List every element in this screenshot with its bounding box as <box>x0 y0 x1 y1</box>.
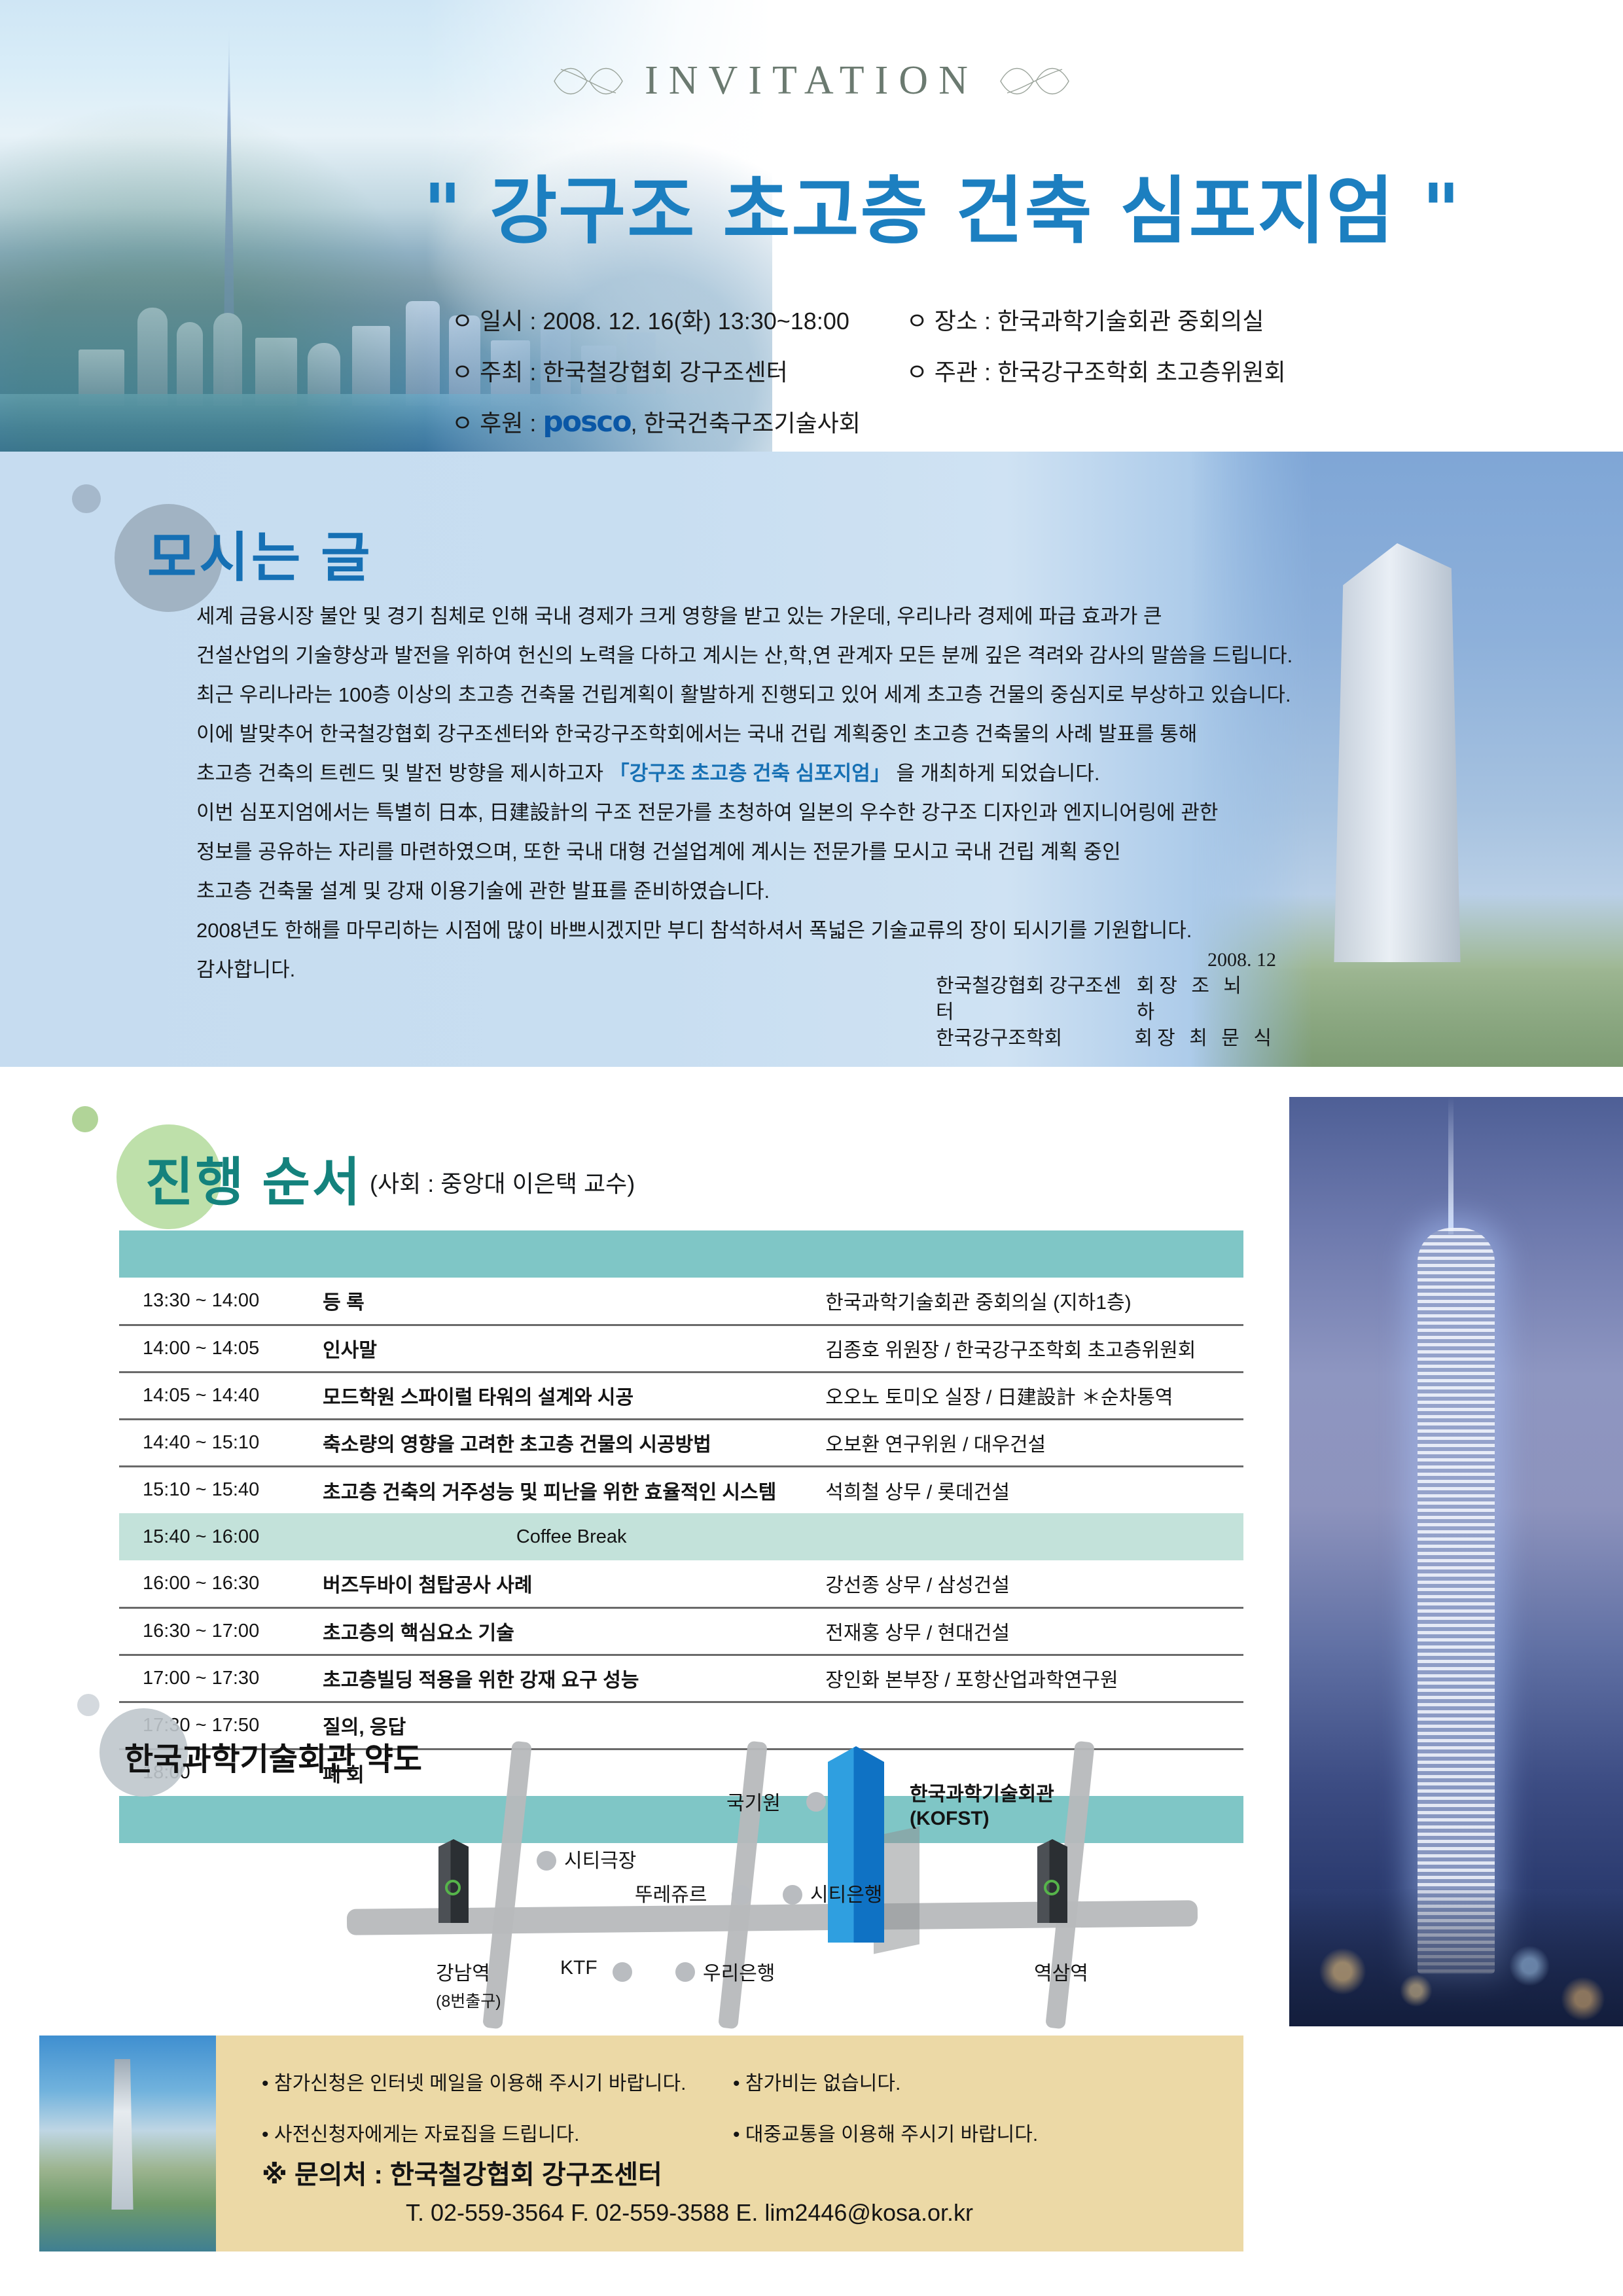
row-time: 16:00 ~ 16:30 <box>119 1560 317 1607</box>
meta-organizer-label: ㅇ 주관 : <box>906 353 991 387</box>
row-topic: 축소량의 영향을 고려한 초고층 건물의 시공방법 <box>317 1419 820 1466</box>
meta-sponsor: ㅇ 후원 : posco , 한국건축구조기술사회 <box>452 404 1171 439</box>
map-label-gangnam-exit: (8번출구) <box>436 1988 501 2012</box>
program-subtitle: (사회 : 중앙대 이은택 교수) <box>370 1165 635 1199</box>
note-right: • 대중교통을 이용해 주시기 바랍니다. <box>733 2118 1191 2147</box>
program-title: 진행 순서 <box>145 1140 363 1216</box>
greeting-accent-dot <box>72 484 101 513</box>
greeting-paragraph: 초고층 건축물 설계 및 강재 이용기술에 관한 발표를 준비하였습니다. <box>196 877 1217 906</box>
row-topic: 버즈두바이 첨탑공사 사례 <box>317 1560 820 1607</box>
tower-city-base <box>1289 1889 1623 2026</box>
row-speaker: 한국과학기술회관 중회의실 (지하1층) <box>820 1278 1243 1325</box>
row-speaker <box>820 1513 1243 1560</box>
signature-role-name: 회장 조 뇌 하 <box>1137 973 1276 1026</box>
greeting-body: 세계 금융시장 불안 및 경기 침체로 인해 국내 경제가 크게 영향을 받고 … <box>196 602 1217 995</box>
table-row: 14:05 ~ 14:40 모드학원 스파이럴 타워의 설계와 시공 오오노 토… <box>119 1372 1243 1419</box>
invitation-word: INVITATION <box>630 58 993 104</box>
meta-sponsor-value: , 한국건축구조기술사회 <box>631 404 861 439</box>
footer-contact-title: ※ 문의처 : 한국철강협회 강구조센터 <box>262 2153 662 2191</box>
signature-role-name: 회장 최 문 식 <box>1134 1026 1276 1052</box>
map-poi-tous-les-jours <box>732 1885 751 1905</box>
map-station-gangnam-icon <box>438 1839 469 1923</box>
posco-logo: posco <box>543 405 630 439</box>
row-speaker: 김종호 위원장 / 한국강구조학회 초고층위원회 <box>820 1325 1243 1372</box>
row-speaker: 석희철 상무 / 롯데건설 <box>820 1466 1243 1513</box>
table-row: 14:00 ~ 14:05 인사말 김종호 위원장 / 한국강구조학회 초고층위… <box>119 1325 1243 1372</box>
row-time: 14:00 ~ 14:05 <box>119 1325 317 1372</box>
map-label-woori-bank: 우리은행 <box>703 1957 775 1986</box>
invitation-poster: INVITATION " 강구조 초고층 건축 심포지엄 " ㅇ 일시 : 20… <box>0 0 1623 2296</box>
tower-body <box>1418 1228 1495 1974</box>
map-poi-ktf <box>613 1962 632 1982</box>
highlight-before: 초고층 건축의 트렌드 및 발전 방향을 제시하고자 <box>196 762 609 785</box>
note-right: • 참가비는 없습니다. <box>733 2067 1191 2096</box>
location-map: 한국과학기술회관 (KOFST) 국기원 시티극장 뚜레쥬르 시티은행 강남역 … <box>308 1695 1250 2036</box>
table-row: 16:30 ~ 17:00 초고층의 핵심요소 기술 전재홍 상무 / 현대건설 <box>119 1607 1243 1655</box>
row-time: 14:05 ~ 14:40 <box>119 1372 317 1419</box>
map-label-gukgiwon: 국기원 <box>726 1787 781 1816</box>
meta-date: ㅇ 일시 : 2008. 12. 16(화) 13:30~18:00 <box>452 302 906 336</box>
meta-date-label: ㅇ 일시 : <box>452 302 536 336</box>
signature-row: 한국철강협회 강구조센터 회장 조 뇌 하 <box>936 973 1276 1026</box>
row-topic: 등 록 <box>317 1278 820 1325</box>
row-topic: 인사말 <box>317 1325 820 1372</box>
map-poi-city-theater <box>537 1851 556 1871</box>
row-topic: 초고층 건축의 거주성능 및 피난을 위한 효율적인 시스템 <box>317 1466 820 1513</box>
note-row: • 참가신청은 인터넷 메일을 이용해 주시기 바랍니다. • 참가비는 없습니… <box>262 2067 1230 2096</box>
page-title: " 강구조 초고층 건축 심포지엄 " <box>353 152 1531 258</box>
footer-tower-body <box>107 2059 137 2210</box>
meta-venue-label: ㅇ 장소 : <box>906 302 991 336</box>
table-row-coffee-break: 15:40 ~ 16:00 Coffee Break <box>119 1513 1243 1560</box>
header-section: INVITATION " 강구조 초고층 건축 심포지엄 " ㅇ 일시 : 20… <box>0 0 1623 452</box>
map-poi-citibank <box>783 1885 802 1905</box>
invitation-banner: INVITATION <box>458 58 1165 104</box>
greeting-paragraph: 세계 금융시장 불안 및 경기 침체로 인해 국내 경제가 크게 영향을 받고 … <box>196 602 1217 631</box>
signature-date: 2008. 12 <box>936 947 1276 973</box>
meta-venue: ㅇ 장소 : 한국과학기술회관 중회의실 <box>906 302 1564 336</box>
signature-org: 한국철강협회 강구조센터 <box>936 973 1137 1026</box>
greeting-paragraph: 정보를 공유하는 자리를 마련하였으며, 또한 국내 대형 건설업계에 계시는 … <box>196 838 1217 867</box>
row-speaker: 오오노 토미오 실장 / 日建設計 ＊순차통역 <box>820 1372 1243 1419</box>
night-tower-photo <box>1289 1097 1623 2026</box>
symposium-name-highlight: 「강구조 초고층 건축 심포지엄」 <box>609 762 891 785</box>
greeting-paragraph: 2008년도 한해를 마무리하는 시점에 많이 바쁘시겠지만 부디 참석하셔서 … <box>196 916 1217 945</box>
greeting-paragraph-highlight: 초고층 건축의 트렌드 및 발전 방향을 제시하고자 「강구조 초고층 건축 심… <box>196 759 1217 788</box>
row-time: 15:10 ~ 15:40 <box>119 1466 317 1513</box>
map-label-city-theater: 시티극장 <box>564 1844 636 1873</box>
map-label-tous-les-jours: 뚜레쥬르 <box>635 1878 707 1907</box>
signature-role: 회장 <box>1137 975 1182 997</box>
map-label-gangnam-station: 강남역 <box>436 1957 490 1986</box>
meta-date-value: 2008. 12. 16(화) 13:30~18:00 <box>543 302 849 336</box>
flourish-right-icon <box>995 60 1074 102</box>
program-accent-dot <box>72 1106 98 1132</box>
greeting-signature: 2008. 12 한국철강협회 강구조센터 회장 조 뇌 하 한국강구조학회 회… <box>936 947 1276 1052</box>
signature-role: 회장 <box>1134 1028 1179 1049</box>
table-row: 13:30 ~ 14:00 등 록 한국과학기술회관 중회의실 (지하1층) <box>119 1278 1243 1325</box>
signature-name: 최 문 식 <box>1189 1028 1276 1049</box>
meta-venue-value: 한국과학기술회관 중회의실 <box>997 302 1264 336</box>
highlight-after: 을 개최하게 되었습니다. <box>891 762 1100 785</box>
map-label-ktf: KTF <box>560 1957 597 1979</box>
note-left: • 사전신청자에게는 자료집을 드립니다. <box>262 2118 733 2147</box>
meta-sponsor-label: ㅇ 후원 : <box>452 404 536 439</box>
footer-tower-photo <box>39 2036 216 2251</box>
row-time: 13:30 ~ 14:00 <box>119 1278 317 1325</box>
map-accent-dot <box>77 1694 99 1716</box>
map-road-vertical-1 <box>482 1741 532 2030</box>
meta-row-sponsor: ㅇ 후원 : posco , 한국건축구조기술사회 <box>452 404 1564 439</box>
table-row: 14:40 ~ 15:10 축소량의 영향을 고려한 초고층 건물의 시공방법 … <box>119 1419 1243 1466</box>
row-time: 17:00 ~ 17:30 <box>119 1655 317 1702</box>
flourish-left-icon <box>549 60 628 102</box>
row-time: 14:40 ~ 15:10 <box>119 1419 317 1466</box>
signature-row: 한국강구조학회 회장 최 문 식 <box>936 1026 1276 1052</box>
meta-host: ㅇ 주최 : 한국철강협회 강구조센터 <box>452 353 906 387</box>
map-label-yeoksam-station: 역삼역 <box>1034 1957 1088 1986</box>
row-speaker: 전재홍 상무 / 현대건설 <box>820 1607 1243 1655</box>
table-row: 16:00 ~ 16:30 버즈두바이 첨탑공사 사례 강선종 상무 / 삼성건… <box>119 1560 1243 1607</box>
row-speaker: 강선종 상무 / 삼성건설 <box>820 1560 1243 1607</box>
tower-light-beam <box>1448 1097 1454 1234</box>
map-label-citibank: 시티은행 <box>810 1878 882 1907</box>
greeting-paragraph: 이번 심포지엄에서는 특별히 日本, 日建設計의 구조 전문가를 초청하여 일본… <box>196 798 1217 827</box>
map-station-yeoksam-icon <box>1037 1839 1067 1923</box>
header-spire-tower <box>216 26 242 393</box>
meta-organizer: ㅇ 주관 : 한국강구조학회 초고층위원회 <box>906 353 1564 387</box>
row-speaker: 오보환 연구위원 / 대우건설 <box>820 1419 1243 1466</box>
map-label-venue: 한국과학기술회관 <box>910 1778 1054 1806</box>
meta-row-host-org: ㅇ 주최 : 한국철강협회 강구조센터 ㅇ 주관 : 한국강구조학회 초고층위원… <box>452 353 1564 387</box>
greeting-paragraph: 최근 우리나라는 100층 이상의 초고층 건축물 건립계획이 활발하게 진행되… <box>196 681 1217 709</box>
row-time: 16:30 ~ 17:00 <box>119 1607 317 1655</box>
row-topic: Coffee Break <box>317 1513 820 1560</box>
meta-organizer-value: 한국강구조학회 초고층위원회 <box>997 353 1286 387</box>
row-topic: 모드학원 스파이럴 타워의 설계와 시공 <box>317 1372 820 1419</box>
map-label-venue-sub: (KOFST) <box>910 1808 990 1830</box>
map-poi-woori-bank <box>675 1962 695 1982</box>
meta-host-value: 한국철강협회 강구조센터 <box>543 353 787 387</box>
map-poi-gukgiwon <box>806 1792 826 1812</box>
greeting-paragraph: 이에 발맞추어 한국철강협회 강구조센터와 한국강구조학회에서는 국내 건립 계… <box>196 720 1217 749</box>
meta-host-label: ㅇ 주최 : <box>452 353 536 387</box>
row-time: 15:40 ~ 16:00 <box>119 1513 317 1560</box>
schedule-rule-top <box>119 1230 1243 1278</box>
greeting-paragraph: 건설산업의 기술향상과 발전을 위하여 헌신의 노력을 다하고 계시는 산,학,… <box>196 641 1217 670</box>
signature-org: 한국강구조학회 <box>936 1026 1062 1052</box>
row-topic: 초고층의 핵심요소 기술 <box>317 1607 820 1655</box>
table-row: 15:10 ~ 15:40 초고층 건축의 거주성능 및 피난을 위한 효율적인… <box>119 1466 1243 1513</box>
footer-contact-line: T. 02-559-3564 F. 02-559-3588 E. lim2446… <box>406 2199 973 2227</box>
kofst-building-icon <box>828 1746 884 1943</box>
note-row: • 사전신청자에게는 자료집을 드립니다. • 대중교통을 이용해 주시기 바랍… <box>262 2118 1230 2147</box>
meta-row-date-venue: ㅇ 일시 : 2008. 12. 16(화) 13:30~18:00 ㅇ 장소 … <box>452 302 1564 336</box>
note-left: • 참가신청은 인터넷 메일을 이용해 주시기 바랍니다. <box>262 2067 733 2096</box>
greeting-title: 모시는 글 <box>147 514 373 592</box>
event-meta: ㅇ 일시 : 2008. 12. 16(화) 13:30~18:00 ㅇ 장소 … <box>452 302 1564 452</box>
